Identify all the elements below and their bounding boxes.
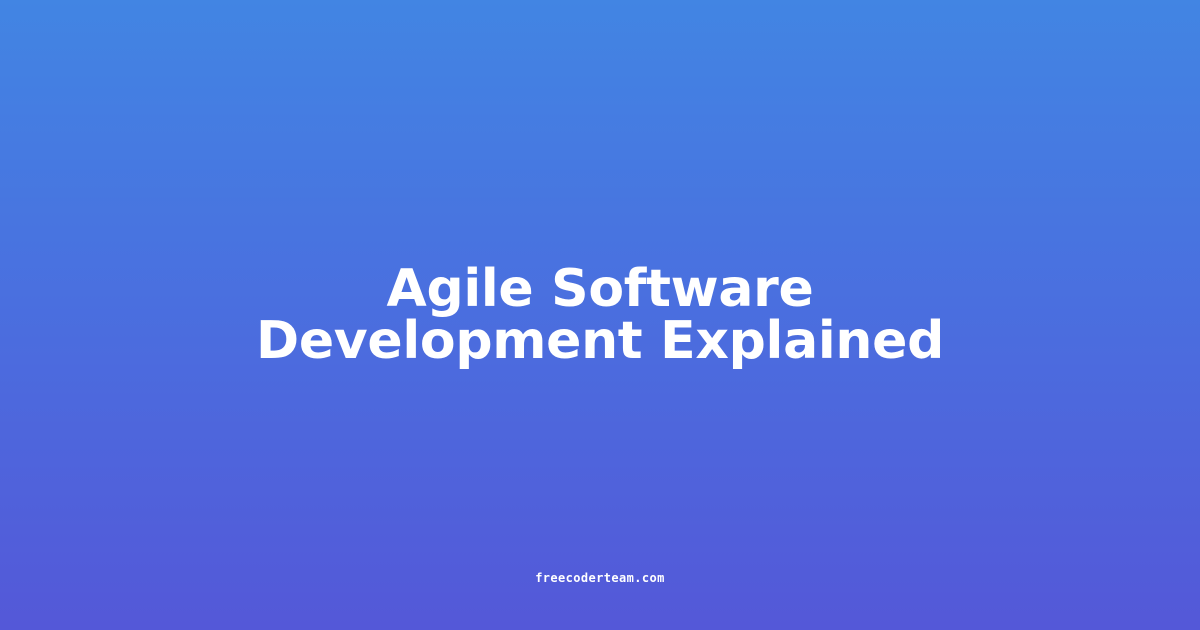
card-content: Agile Software Development Explained xyxy=(0,0,1200,630)
page-title: Agile Software Development Explained xyxy=(220,263,980,367)
og-card: Agile Software Development Explained fre… xyxy=(0,0,1200,630)
site-domain-label: freecoderteam.com xyxy=(535,572,665,584)
card-footer: freecoderteam.com xyxy=(0,572,1200,584)
